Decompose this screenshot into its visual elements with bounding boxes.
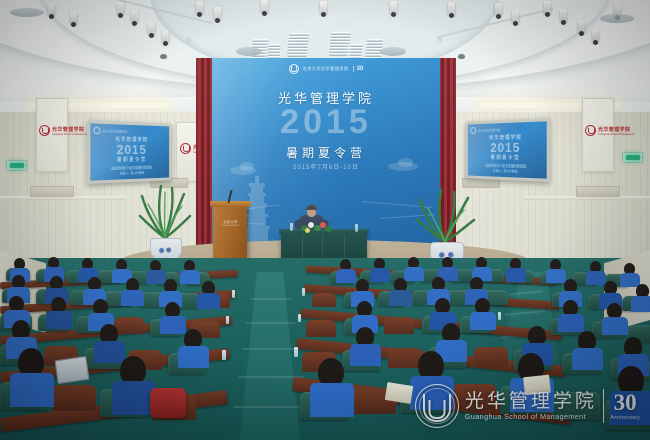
screen-subtitle-right: 暑期夏令营 [468,154,547,162]
water-bottle [290,223,293,231]
exit-sign-icon [626,155,640,160]
water-bottle [222,350,226,360]
peking-university-seal-icon [39,125,50,136]
person-torso [631,296,650,312]
podium-nameplate: 北京大学 PEKING UNIVERSITY [219,216,242,229]
watermark-text-block: 光华管理学院 Guanghua School of Management [465,392,597,421]
dome-camera-icon [160,54,167,59]
wall-banner-label-cn: 光华管理学院 [598,126,634,133]
peking-university-seal-icon [289,64,299,74]
seat-wood-back [388,348,422,368]
water-bottle [226,316,229,324]
exit-sign-right [622,152,643,163]
water-bottle [232,290,235,298]
seat-wood-back [474,347,508,367]
water-bottle [355,224,358,232]
spotlight-icon [48,3,55,16]
person-torso [94,341,125,363]
podium-plate-en: PEKING UNIVERSITY [221,225,239,227]
backdrop-subtitle: 暑期夏令营 [212,144,440,161]
person-torso [602,317,628,335]
person-torso [197,293,220,309]
spotlight-icon [320,1,327,14]
porcelain-blue-pattern [155,246,177,255]
spotlight-icon [162,30,169,43]
person-torso [506,268,526,282]
ceiling-diffuser [10,8,44,17]
podium-top [210,201,251,207]
wall-vent [576,186,620,197]
person-torso [546,269,566,283]
aisle-step [246,322,296,324]
person-torso [370,268,390,282]
wall-banner-label-en: Guanghua School of Management [598,133,634,136]
projection-screen-right: 北京大学光华管理学院 光华管理学院 2015 暑期夏令营 适应新常态下经济发展的… [465,118,549,182]
person-torso [586,271,606,285]
person-torso [558,314,584,332]
person-torso [178,346,209,368]
red-backpack [150,388,186,418]
aisle-step [233,406,308,408]
person-torso [620,273,640,287]
spotlight-icon [448,2,455,15]
person-torso [404,267,424,281]
person-torso [10,373,54,407]
palm-plant-right [412,182,478,266]
foliage [325,226,332,232]
spotlight-icon [117,2,124,15]
speaker-hair [306,205,317,210]
watermark-divider [603,389,604,423]
person-torso [336,269,356,283]
spotlight-icon [495,3,502,16]
exit-sign-left [6,160,27,171]
seat-wood-back [312,293,336,307]
person-torso [389,290,412,306]
spotlight-icon [131,10,138,23]
screen-logo-right: 北京大学光华管理学院 [470,126,500,134]
person-torso [310,383,354,417]
aisle-step [250,298,292,300]
backdrop-anniversary-badge: 30 [353,66,364,72]
flower-yellow [305,228,310,233]
peking-university-seal-icon [470,127,476,134]
smoke-detector-icon [186,38,191,43]
person-torso [160,316,186,334]
peking-university-seal-icon [415,384,459,428]
ceiling-grille-light [329,32,352,56]
watermark-logo: 光华管理学院 Guanghua School of Management 30 … [415,384,640,428]
ceiling-grille-light [287,33,310,57]
peking-university-seal-icon [585,125,596,136]
seat-wood-back [384,317,414,334]
spotlight-icon [196,1,203,14]
water-bottle [302,288,305,296]
spotlight-icon [578,20,585,33]
watermark-name-cn: 光华管理学院 [465,392,597,411]
person-torso [180,270,200,284]
palm-plant-left [134,176,196,262]
person-torso [46,311,72,329]
screen-logo-left: 北京大学光华管理学院 [93,127,127,135]
backdrop-date: 2015年7月6日-10日 [212,162,440,171]
person-torso [121,290,144,306]
ceiling-diffuser [236,47,262,56]
wall-vent [30,186,74,197]
watermark-anniversary-label: Anniversary [610,415,640,421]
watermark-name-en: Guanghua School of Management [465,412,597,421]
ceiling-grille-light [267,44,281,59]
backdrop-header-logo: 北京大学光华管理学院 30 [212,64,440,74]
spotlight-icon [390,1,397,14]
porcelain-planter [150,238,182,260]
wall-banner-far-left: 光华管理学院 Guanghua School of Management [36,98,68,172]
watermark-anniversary: 30 Anniversary [610,391,640,421]
wall-banner-far-right: 光华管理学院 Guanghua School of Management [582,98,614,172]
ceiling-diffuser [380,47,406,56]
exit-sign-icon [10,163,24,168]
peking-university-seal-icon [93,127,100,135]
screen-logo-text: 北京大学光华管理学院 [102,129,127,134]
aisle-step [242,348,300,350]
water-bottle [498,312,501,320]
screen-subtitle-left: 暑期夏令营 [90,156,169,164]
spotlight-icon [544,1,551,14]
screen-logo-text: 北京大学光华管理学院 [478,128,501,133]
smoke-detector-icon [437,38,442,43]
table-flower-arrangement [299,221,335,233]
watermark-anniversary-number: 30 [614,391,637,414]
auditorium-photo: 光华管理学院 Guanghua School of Management 光华管… [0,0,650,440]
spotlight-icon [592,29,599,42]
water-bottle [294,347,298,357]
tablet-device [54,356,89,384]
wall-banner-label-cn: 光华管理学院 [52,126,88,133]
ceiling-diffuser [600,14,634,23]
seat-wood-back [114,317,144,334]
seal-arch-inner [428,400,445,419]
backdrop-header-text: 北京大学光华管理学院 [303,66,349,72]
spotlight-icon [70,11,77,24]
podium-plate-cn: 北京大学 [223,219,238,224]
seat-wood-back [306,320,336,337]
dome-camera-icon [458,54,465,59]
spotlight-icon [560,9,567,22]
person-torso [470,312,496,330]
spotlight-icon [261,0,268,13]
spotlight-icon [148,22,155,35]
ceiling-grille-light [349,44,363,59]
peking-university-seal-icon [180,143,191,154]
seat-wood-back [52,385,96,411]
person-torso [572,348,603,370]
notebook [385,382,413,404]
person-torso [350,344,381,366]
water-bottle [298,314,301,322]
spotlight-icon [214,7,221,20]
person-torso [146,270,166,284]
wall-banner-label-en: Guanghua School of Management [52,133,88,136]
spotlight-icon [512,10,519,23]
projection-screen-left: 北京大学光华管理学院 光华管理学院 2015 暑期夏令营 适应新常态下经济发展的… [87,120,171,184]
backdrop-year: 2015 [212,105,440,139]
